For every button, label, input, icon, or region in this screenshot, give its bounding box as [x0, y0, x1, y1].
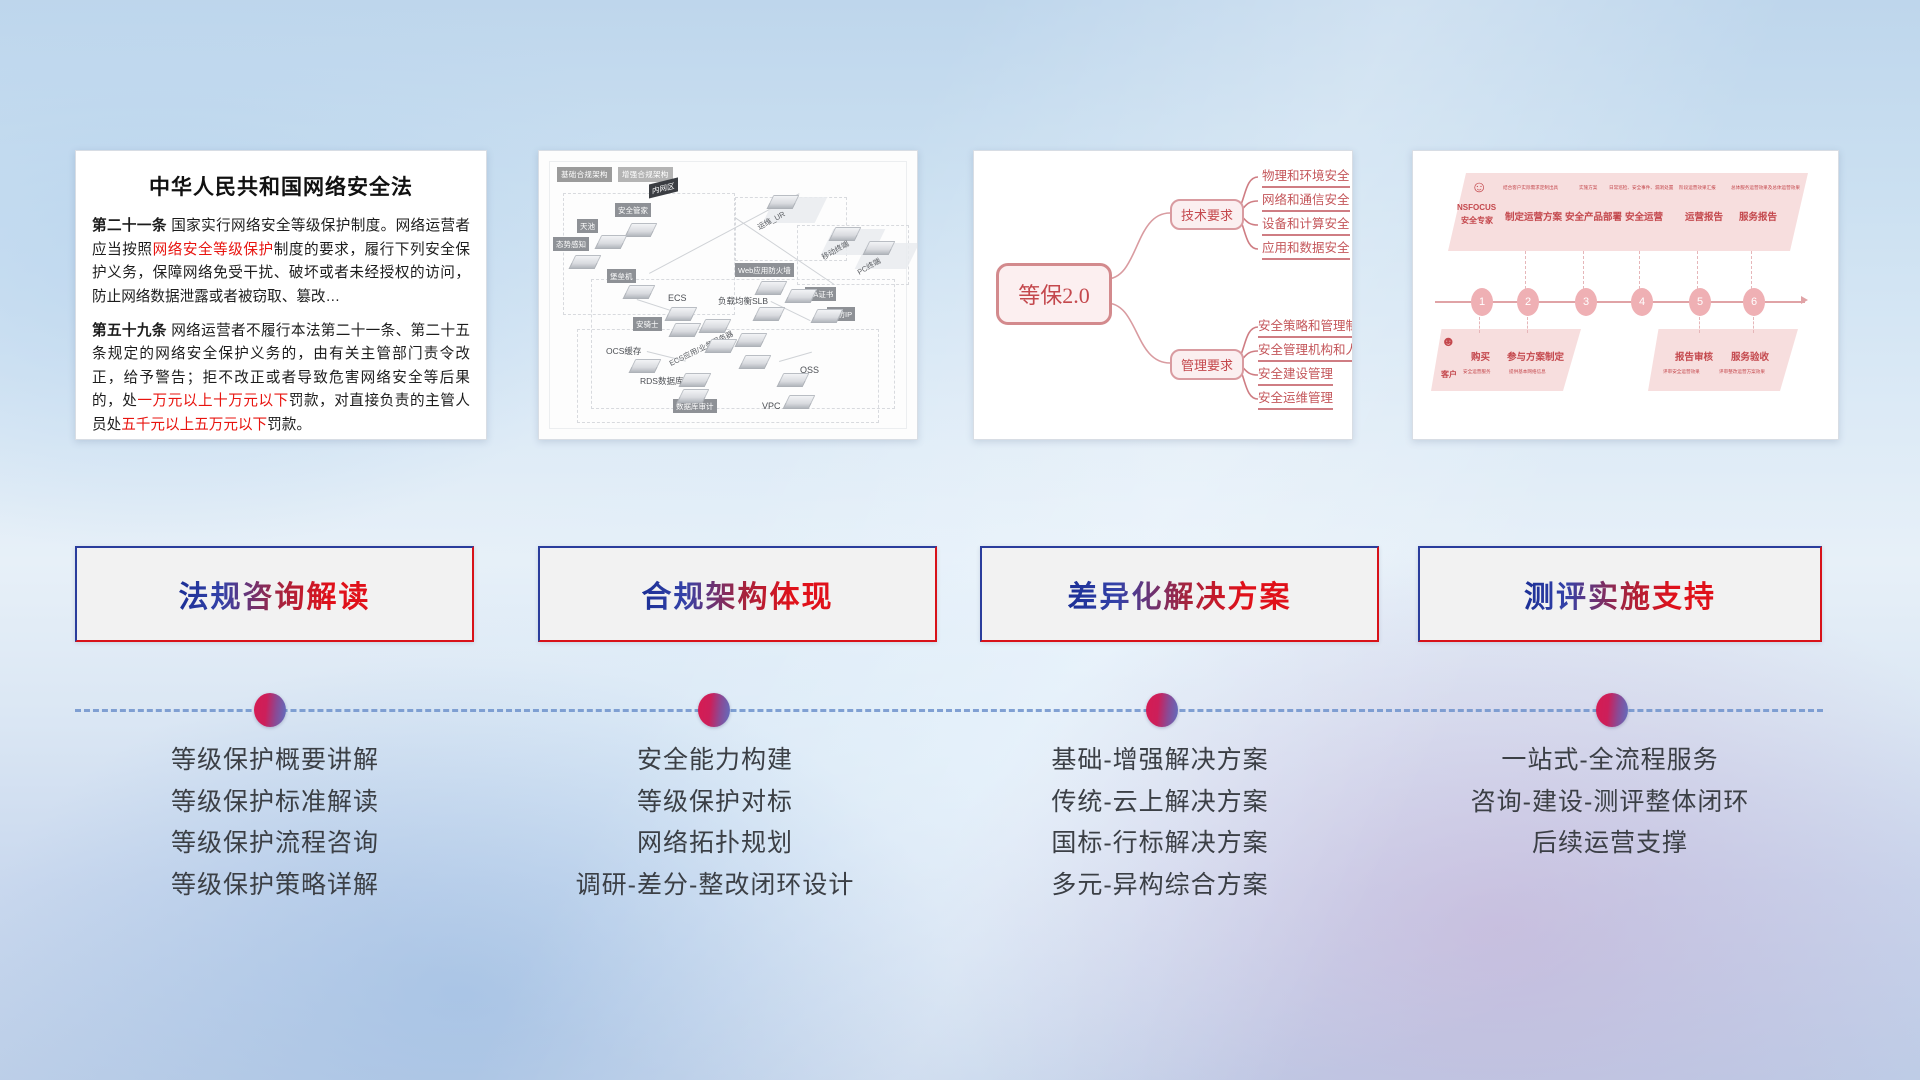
law-article-59-highlight-2: 五千元以上五万元以下 [121, 417, 267, 433]
timeline-dot-4[interactable] [1596, 693, 1628, 727]
section-title-2: 合规架构体现 [642, 572, 834, 616]
mindmap-leaf-tech-3: 设备和计算安全 [1262, 213, 1350, 236]
law-article-21-highlight: 网络安全等级保护 [153, 242, 274, 258]
node-label-vpc: VPC [759, 399, 784, 412]
slide-root: 中华人民共和国网络安全法 第二十一条 国家实行网络安全等级保护制度。网络运营者应… [0, 0, 1920, 1080]
architecture-diagram: 基础合规架构 增强合规架构 内网 [539, 151, 917, 439]
nsfocus-card[interactable]: ☺ NSFOCUS 安全专家 结合客户实际需求定制出具 制定运营方案 实施方案 … [1412, 150, 1839, 440]
node-label-situational-awareness: 态势感知 [553, 237, 589, 251]
nsfocus-step-5-desc: 总体服务运营效果及总体运营效果 [1731, 185, 1800, 191]
node-label-anqishi: 安骑士 [633, 317, 662, 331]
mindmap-leaf-tech-1: 物理和环境安全 [1262, 165, 1350, 188]
node-icon-situational-awareness [569, 251, 599, 271]
node-icon-bastion [623, 281, 653, 301]
section-title-box-4[interactable]: 测评实施支持 [1418, 546, 1822, 642]
node-icon-ca [785, 285, 815, 305]
list-item: 咨询-建设-测评整体闭环 [1390, 782, 1830, 824]
nsfocus-dash-6b [1753, 317, 1755, 333]
list-item: 调研-差分-整改闭环设计 [500, 865, 930, 907]
node-icon-app-2 [705, 335, 735, 355]
section-title-4: 测评实施支持 [1524, 572, 1716, 616]
thumbnail-card-row: 中华人民共和国网络安全法 第二十一条 国家实行网络安全等级保护制度。网络运营者应… [0, 150, 1920, 445]
nsfocus-bottom-right-band [1648, 329, 1798, 391]
nsfocus-step-1-desc: 结合客户实际需求定制出具 [1503, 185, 1558, 191]
nsfocus-bl-step-1-desc: 安全运营服务 [1463, 369, 1491, 375]
architecture-tabs: 基础合规架构 增强合规架构 [557, 167, 673, 182]
section-title-box-3[interactable]: 差异化解决方案 [980, 546, 1379, 642]
mindmap-leaf-mgmt-1: 安全策略和管理制度 [1258, 315, 1353, 338]
nsfocus-step-2-title: 安全产品部署 [1565, 209, 1622, 223]
nsfocus-expert-title: NSFOCUS [1457, 203, 1496, 212]
nsfocus-step-4-title: 运营报告 [1685, 209, 1723, 223]
timeline-dot-3[interactable] [1146, 693, 1178, 727]
timeline-dashed-line [75, 709, 1823, 712]
nsfocus-number-6: 6 [1743, 288, 1765, 316]
section-title-1: 法规咨询解读 [179, 572, 371, 616]
section-title-box-2[interactable]: 合规架构体现 [538, 546, 937, 642]
list-item: 等级保护流程咨询 [60, 823, 490, 865]
nsfocus-dash-1b [1479, 317, 1481, 333]
nsfocus-step-3-desc: 日常巡检、安全事件、漏洞处置 [1609, 185, 1673, 191]
law-article-21: 第二十一条 国家实行网络安全等级保护制度。网络运营者应当按照网络安全等级保护制度… [92, 215, 470, 310]
mindmap-branch-management[interactable]: 管理要求 [1170, 349, 1244, 380]
mindmap-branch-technical[interactable]: 技术要求 [1170, 199, 1244, 230]
node-icon-anqishi [669, 319, 699, 339]
nsfocus-number-5: 5 [1689, 288, 1711, 316]
nsfocus-customer-label: 客户 [1441, 369, 1457, 380]
nsfocus-br-step-2-desc: 评审整改运营方案效果 [1719, 369, 1765, 375]
list-item: 一站式-全流程服务 [1390, 740, 1830, 782]
section-items-4: 一站式-全流程服务 咨询-建设-测评整体闭环 后续运营支撑 [1390, 740, 1830, 865]
list-item: 传统-云上解决方案 [940, 782, 1380, 824]
node-icon-db-audit [677, 385, 707, 405]
section-items-1: 等级保护概要讲解 等级保护标准解读 等级保护流程咨询 等级保护策略详解 [60, 740, 490, 906]
nsfocus-step-1-title: 制定运营方案 [1505, 209, 1562, 223]
nsfocus-diagram: ☺ NSFOCUS 安全专家 结合客户实际需求定制出具 制定运营方案 实施方案 … [1413, 151, 1838, 439]
mindmap-leaf-mgmt-4: 安全运维管理 [1258, 387, 1333, 410]
nsfocus-dash-5b [1699, 317, 1701, 333]
mindmap-leaf-mgmt-2: 安全管理机构和人员 [1258, 339, 1353, 362]
nsfocus-br-step-1-desc: 评审安全运营效果 [1663, 369, 1700, 375]
node-icon-app-1 [699, 315, 729, 335]
list-item: 等级保护概要讲解 [60, 740, 490, 782]
law-card-title: 中华人民共和国网络安全法 [92, 171, 470, 201]
section-items-row: 等级保护概要讲解 等级保护标准解读 等级保护流程咨询 等级保护策略详解 安全能力… [0, 740, 1920, 960]
node-icon-slb [753, 303, 783, 323]
node-label-waf: Web应用防火墙 [735, 263, 794, 277]
node-icon-app-4 [739, 351, 769, 371]
law-card-body: 中华人民共和国网络安全法 第二十一条 国家实行网络安全等级保护制度。网络运营者应… [76, 151, 486, 439]
section-items-2: 安全能力构建 等级保护对标 网络拓扑规划 调研-差分-整改闭环设计 [500, 740, 930, 906]
nsfocus-dash-6 [1751, 251, 1753, 289]
tab-basic-architecture[interactable]: 基础合规架构 [557, 167, 612, 182]
nsfocus-dash-2b [1527, 317, 1529, 333]
node-icon-ocs [629, 355, 659, 375]
node-icon-vpc [783, 391, 813, 411]
nsfocus-step-4-desc: 阶段运营效果汇报 [1679, 185, 1716, 191]
timeline-dot-2[interactable] [698, 693, 730, 727]
nsfocus-expert-subtitle: 安全专家 [1461, 215, 1493, 226]
mindmap-leaf-tech-4: 应用和数据安全 [1262, 237, 1350, 260]
nsfocus-axis-arrow [1801, 296, 1808, 304]
nsfocus-dash-4 [1639, 251, 1641, 289]
node-icon-tianchi [595, 231, 625, 251]
section-title-3: 差异化解决方案 [1068, 572, 1292, 616]
list-item: 国标-行标解决方案 [940, 823, 1380, 865]
node-label-security-butler: 安全管家 [615, 203, 651, 217]
nsfocus-dash-2 [1525, 251, 1527, 289]
list-item: 后续运营支撑 [1390, 823, 1830, 865]
list-item: 网络拓扑规划 [500, 823, 930, 865]
nsfocus-number-3: 3 [1575, 288, 1597, 316]
nsfocus-dash-3 [1583, 251, 1585, 289]
nsfocus-bl-step-2-title: 参与方案制定 [1507, 349, 1564, 363]
node-icon-security-butler [625, 219, 655, 239]
mindmap-core: 等保2.0 [996, 263, 1112, 325]
nsfocus-dash-5 [1697, 251, 1699, 289]
list-item: 多元-异构综合方案 [940, 865, 1380, 907]
list-item: 安全能力构建 [500, 740, 930, 782]
section-title-row: 法规咨询解读 合规架构体现 差异化解决方案 测评实施支持 [0, 546, 1920, 642]
nsfocus-bl-step-2-desc: 提供基本网络信息 [1509, 369, 1546, 375]
list-item: 基础-增强解决方案 [940, 740, 1380, 782]
nsfocus-step-5-title: 服务报告 [1739, 209, 1777, 223]
nsfocus-step-3-title: 安全运营 [1625, 209, 1663, 223]
node-icon-oss [777, 369, 807, 389]
mindmap-leaf-mgmt-3: 安全建设管理 [1258, 363, 1333, 386]
nsfocus-number-2: 2 [1517, 288, 1539, 316]
architecture-card[interactable]: 基础合规架构 增强合规架构 内网 [538, 150, 918, 440]
section-items-3: 基础-增强解决方案 传统-云上解决方案 国标-行标解决方案 多元-异构综合方案 [940, 740, 1380, 906]
law-article-59-label: 第五十九条 [92, 323, 167, 339]
list-item: 等级保护策略详解 [60, 865, 490, 907]
mindmap-leaf-tech-2: 网络和通信安全 [1262, 189, 1350, 212]
expert-person-icon: ☺ [1471, 179, 1487, 197]
node-icon-anti-ddos [811, 305, 841, 325]
list-item: 等级保护标准解读 [60, 782, 490, 824]
nsfocus-br-step-2-title: 服务验收 [1731, 349, 1769, 363]
list-item: 等级保护对标 [500, 782, 930, 824]
nsfocus-number-1: 1 [1471, 288, 1493, 316]
timeline [0, 693, 1920, 727]
section-title-box-1[interactable]: 法规咨询解读 [75, 546, 474, 642]
law-card[interactable]: 中华人民共和国网络安全法 第二十一条 国家实行网络安全等级保护制度。网络运营者应… [75, 150, 487, 440]
timeline-dot-1[interactable] [254, 693, 286, 727]
mindmap-card[interactable]: 等保2.0 技术要求 物理和环境安全 网络和通信安全 设备和计算安全 应用和数据… [973, 150, 1353, 440]
law-article-59-text-3: 罚款。 [267, 417, 311, 433]
nsfocus-number-4: 4 [1631, 288, 1653, 316]
nsfocus-br-step-1-title: 报告审核 [1675, 349, 1713, 363]
node-icon-app-3 [735, 329, 765, 349]
law-article-59-highlight-1: 一万元以上十万元以下 [137, 393, 288, 409]
mindmap-diagram: 等保2.0 技术要求 物理和环境安全 网络和通信安全 设备和计算安全 应用和数据… [974, 151, 1352, 439]
nsfocus-bl-step-1-title: 购买 [1471, 349, 1490, 363]
nsfocus-step-2-desc: 实施方案 [1579, 185, 1597, 191]
law-article-59: 第五十九条 网络运营者不履行本法第二十一条、第二十五条规定的网络安全保护义务的，… [92, 320, 470, 438]
law-article-21-label: 第二十一条 [92, 218, 167, 234]
customer-person-icon: ☻ [1441, 333, 1456, 349]
